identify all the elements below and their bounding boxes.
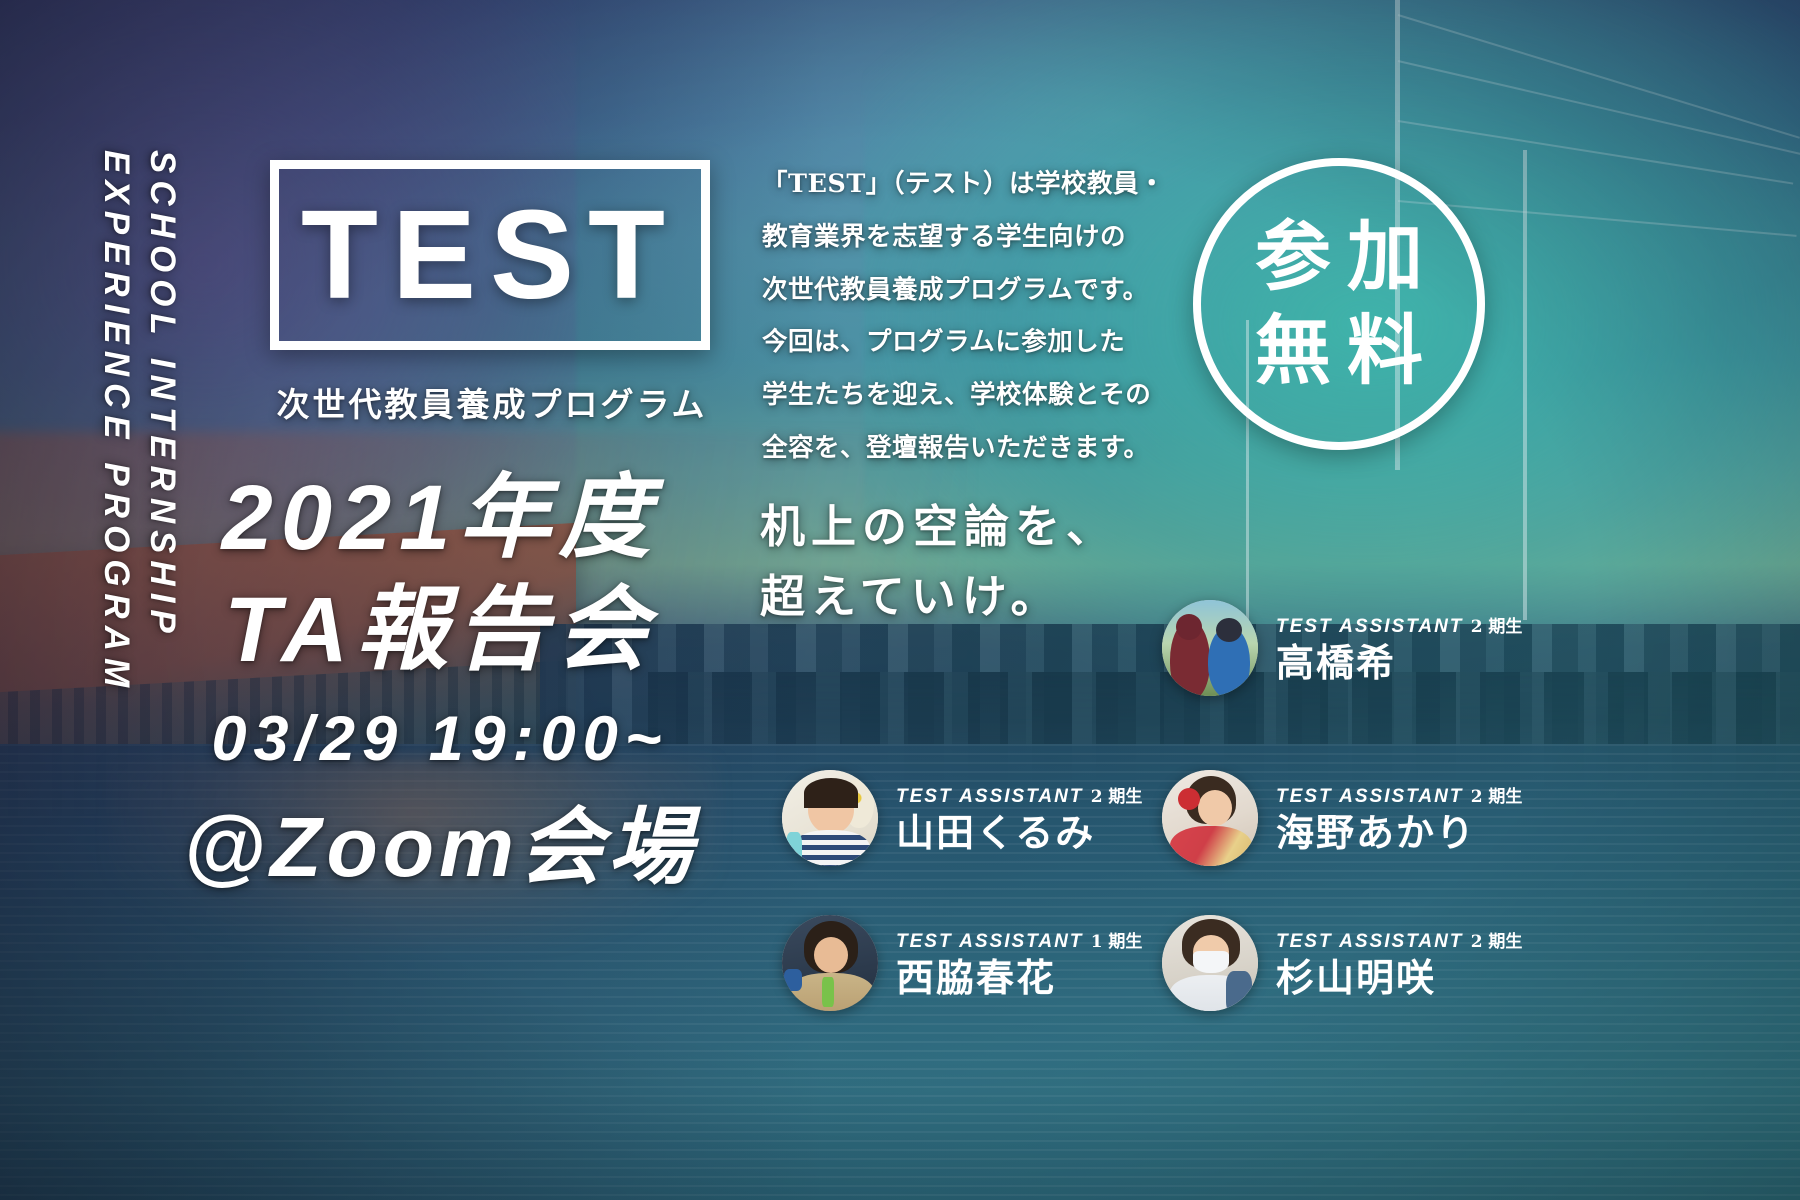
presenter-role: TEST ASSISTANT 2 期生 [896,782,1142,808]
presenter-role-text: TEST ASSISTANT [1276,931,1463,952]
avatar [782,770,878,866]
presenter-generation: 2 期生 [1091,787,1143,807]
presenter-generation: 1 期生 [1091,932,1143,952]
presenter-name: 杉山明咲 [1276,957,1522,999]
avatar [1162,770,1258,866]
presenter-role: TEST ASSISTANT 2 期生 [1276,782,1522,808]
presenter-role-text: TEST ASSISTANT [896,786,1083,807]
presenter-role-text: TEST ASSISTANT [896,931,1083,952]
presenter-role: TEST ASSISTANT 1 期生 [896,927,1142,953]
presenter-name: 海野あかり [1276,812,1522,854]
presenter-generation: 2 期生 [1471,787,1523,807]
presenter-list: TEST ASSISTANT 2 期生 高橋希 [0,0,1800,1200]
presenter-role-text: TEST ASSISTANT [1276,616,1463,637]
presenter-name: 山田くるみ [896,812,1142,854]
presenter-name: 高橋希 [1276,642,1522,684]
presenter-role: TEST ASSISTANT 2 期生 [1276,612,1522,638]
avatar [1162,915,1258,1011]
avatar [1162,600,1258,696]
presenter-card: TEST ASSISTANT 2 期生 杉山明咲 [1162,915,1522,1011]
presenter-role: TEST ASSISTANT 2 期生 [1276,927,1522,953]
presenter-card: TEST ASSISTANT 2 期生 海野あかり [1162,770,1522,866]
presenter-card: TEST ASSISTANT 1 期生 西脇春花 [782,915,1142,1011]
presenter-generation: 2 期生 [1471,617,1523,637]
presenter-card: TEST ASSISTANT 2 期生 高橋希 [1162,600,1522,696]
presenter-generation: 2 期生 [1471,932,1523,952]
presenter-card: TEST ASSISTANT 2 期生 山田くるみ [782,770,1142,866]
presenter-name: 西脇春花 [896,957,1142,999]
presenter-role-text: TEST ASSISTANT [1276,786,1463,807]
poster-canvas: EXPERIENCE PROGRAM SCHOOL INTERNSHIP TES… [0,0,1800,1200]
avatar [782,915,878,1011]
